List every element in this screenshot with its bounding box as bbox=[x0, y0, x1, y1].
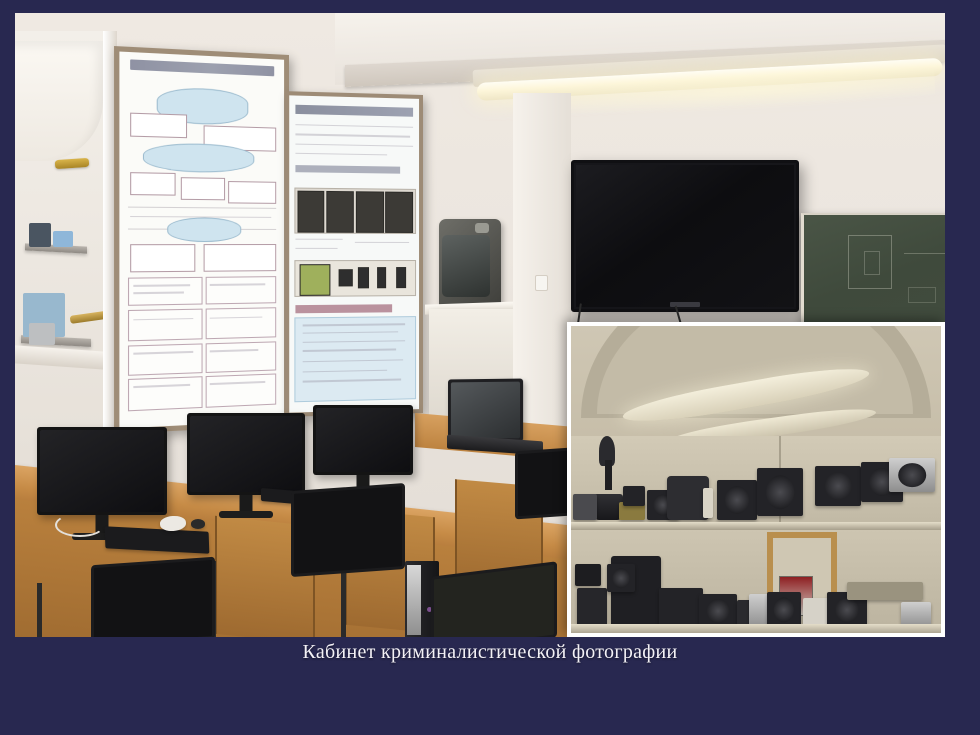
poster-1-cell-7 bbox=[128, 376, 202, 411]
poster-2-list-7 bbox=[303, 379, 401, 383]
poster-1-cell-5 bbox=[128, 343, 202, 375]
main-photo bbox=[15, 13, 945, 637]
poster-2-title bbox=[296, 105, 413, 117]
poster-2-list-3 bbox=[303, 340, 406, 343]
inset-photo bbox=[567, 322, 945, 637]
monitor-1 bbox=[37, 427, 167, 515]
poster-2-section-1 bbox=[296, 165, 400, 174]
monitor-2-base bbox=[219, 511, 273, 518]
equipment-box-icon bbox=[847, 582, 923, 600]
camera-bottom-1 bbox=[577, 588, 607, 628]
poster-2-text-1 bbox=[296, 124, 413, 128]
poster-2-text-6 bbox=[296, 248, 338, 250]
laptop-screen bbox=[451, 382, 520, 439]
camera-top-3 bbox=[623, 486, 645, 506]
shelf-object-2 bbox=[53, 231, 73, 247]
projector-lens bbox=[607, 564, 635, 592]
monitor-3 bbox=[313, 405, 413, 475]
camera-bottom-2 bbox=[659, 588, 703, 628]
film-box-icon bbox=[703, 488, 713, 518]
camera-top-6 bbox=[717, 480, 757, 520]
camera-bottom-6 bbox=[767, 592, 801, 628]
chalk-drawing-4 bbox=[908, 287, 936, 303]
inset-shelf-upper bbox=[571, 522, 945, 530]
poster-forensic-medical bbox=[285, 91, 423, 417]
crt-tv-knob-icon bbox=[475, 223, 489, 233]
poster-1-box-7 bbox=[204, 244, 277, 272]
poster-handwriting-research bbox=[114, 46, 289, 434]
poster-2-section-2 bbox=[296, 304, 392, 313]
poster-2-photo-2 bbox=[326, 191, 354, 232]
inset-shelf-lower bbox=[571, 624, 945, 634]
poster-2-text-2 bbox=[296, 134, 410, 138]
chair-1-backrest bbox=[91, 557, 215, 637]
crt-tv-screen bbox=[442, 235, 490, 297]
crt-tv bbox=[439, 219, 501, 311]
poster-2-list-5 bbox=[303, 359, 403, 362]
gold-plaque-icon bbox=[55, 158, 90, 169]
poster-1-box-4 bbox=[180, 177, 225, 200]
poster-2-tool-1-icon bbox=[339, 269, 353, 286]
tower-front-panel bbox=[407, 565, 421, 635]
monitor-2-screen bbox=[190, 416, 302, 492]
shelf-object-4 bbox=[29, 323, 55, 345]
poster-2-text-4 bbox=[296, 153, 387, 156]
alcove-arch bbox=[15, 41, 103, 161]
poster-1-cell-2 bbox=[205, 276, 276, 305]
laptop-lid bbox=[448, 379, 523, 442]
poster-1-box-5 bbox=[228, 181, 276, 204]
poster-1-blob-2 bbox=[143, 143, 254, 173]
slide-root: Кабинет криминалистической фотографии bbox=[0, 0, 980, 735]
camera-top-8 bbox=[815, 466, 861, 506]
chalk-drawing-3 bbox=[904, 253, 945, 254]
poster-2-paper bbox=[289, 95, 419, 412]
monitor-2 bbox=[187, 413, 305, 495]
desk-leg-1 bbox=[37, 583, 42, 637]
microscope-tube bbox=[605, 460, 612, 490]
poster-1-paper bbox=[119, 52, 284, 429]
chalk-drawing-2 bbox=[864, 251, 880, 275]
green-chalkboard bbox=[801, 213, 945, 339]
poster-1-cell-6 bbox=[205, 341, 276, 373]
slide-caption: Кабинет криминалистической фотографии bbox=[0, 641, 980, 664]
monitor-1-screen bbox=[40, 430, 164, 512]
poster-1-box-6 bbox=[130, 244, 196, 272]
camera-top-7 bbox=[757, 468, 803, 516]
poster-2-photo-3 bbox=[356, 192, 384, 233]
poster-1-box-1 bbox=[130, 112, 188, 138]
monitor-3-screen bbox=[316, 408, 410, 472]
camera-top-1 bbox=[573, 494, 597, 520]
wall-outlet-icon bbox=[535, 275, 548, 291]
camera-top-10 bbox=[889, 458, 935, 492]
poster-1-rule-1 bbox=[128, 206, 276, 208]
poster-2-tool-4-icon bbox=[396, 267, 406, 288]
film-pack-icon bbox=[575, 564, 601, 586]
shelf-object-1 bbox=[29, 223, 51, 247]
poster-2-list-4 bbox=[303, 349, 396, 352]
poster-2-list-6 bbox=[303, 369, 387, 372]
poster-2-tool-3-icon bbox=[377, 267, 386, 288]
poster-2-text-7 bbox=[355, 241, 409, 243]
poster-2-specimen-icon bbox=[299, 264, 330, 295]
poster-2-list-2 bbox=[303, 331, 399, 334]
poster-1-cell-8 bbox=[205, 374, 276, 408]
chair-2-backrest bbox=[291, 483, 405, 577]
alcove bbox=[15, 31, 115, 461]
monitor-cable bbox=[55, 513, 105, 537]
poster-1-box-3 bbox=[130, 172, 176, 195]
poster-2-text-3 bbox=[296, 143, 413, 147]
poster-1-cell-3 bbox=[128, 308, 202, 342]
poster-2-photo-strip bbox=[295, 187, 416, 234]
poster-2-list-1 bbox=[303, 324, 406, 327]
poster-2-photo-4 bbox=[386, 192, 414, 233]
poster-1-blob-3 bbox=[167, 218, 241, 242]
poster-2-text-5 bbox=[296, 238, 343, 240]
poster-1-cell-4 bbox=[205, 307, 276, 340]
poster-1-title bbox=[130, 60, 275, 77]
camera-bottom-3 bbox=[699, 594, 737, 628]
mouse-2 bbox=[191, 519, 205, 529]
flat-screen-tv bbox=[571, 160, 799, 312]
poster-2-tool-2-icon bbox=[358, 267, 368, 288]
poster-2-instruments-band bbox=[295, 260, 416, 297]
poster-2-photo-1 bbox=[298, 191, 324, 232]
poster-2-list-panel bbox=[295, 316, 416, 402]
tv-screen bbox=[576, 165, 794, 307]
